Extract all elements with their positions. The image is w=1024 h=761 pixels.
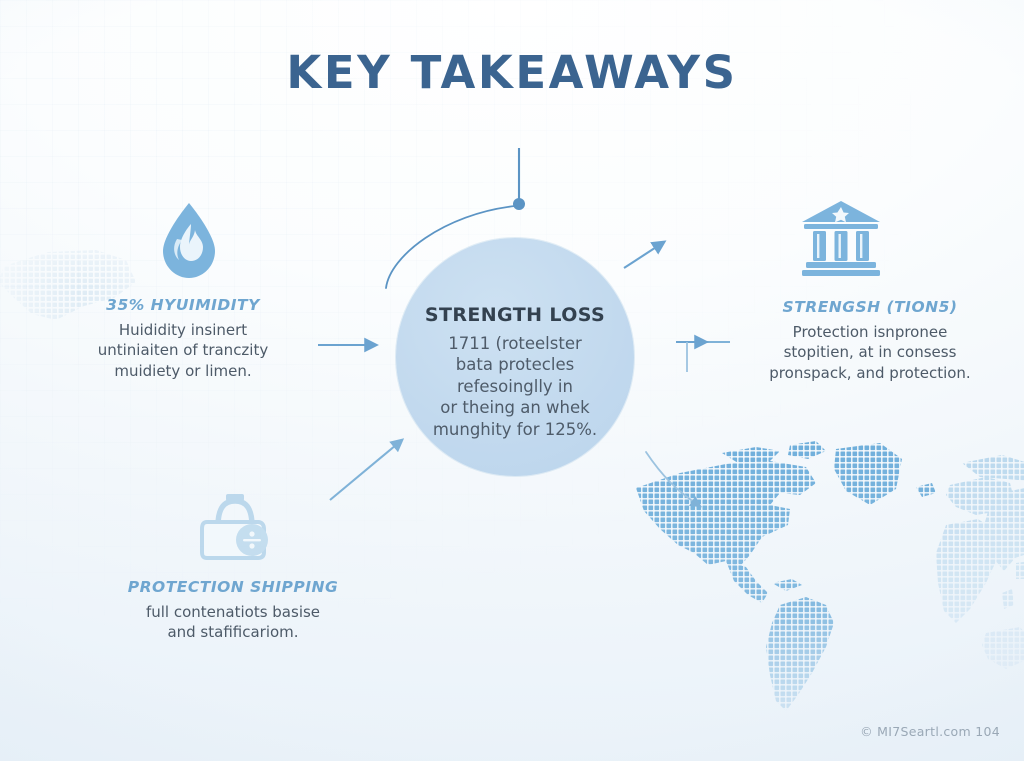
center-body-line: refesoinglly in	[410, 376, 620, 397]
bank-institution-icon	[798, 198, 884, 278]
block-strength-heading: STRENGSH (TION5)	[745, 298, 995, 316]
center-body-line: munghity for 125%.	[410, 419, 620, 440]
block-humidity-line: Huididity insinert	[68, 320, 298, 340]
block-strength: STRENGSH (TION5) Protection isnpronee st…	[745, 298, 995, 383]
block-strength-line: pronspack, and protection.	[745, 363, 995, 383]
block-humidity-line: muidiety or limen.	[68, 361, 298, 381]
center-body: 1711 (roteelster bata protecles refesoin…	[410, 333, 620, 440]
center-content: STRENGTH LOSS 1711 (roteelster bata prot…	[396, 238, 634, 476]
block-humidity-heading: 35% HYUIMIDITY	[68, 296, 298, 314]
footer-watermark: © MI7Seartl.com 104	[860, 724, 1000, 739]
center-heading: STRENGTH LOSS	[425, 304, 605, 326]
block-shipping: PROTECTION SHIPPING full contenatiots ba…	[108, 578, 358, 643]
block-shipping-line: and stafificariom.	[108, 622, 358, 642]
connector-node-dot	[513, 198, 525, 210]
connector-arrow-lowerright	[646, 452, 700, 506]
block-strength-body: Protection isnpronee stopitien, at in co…	[745, 322, 995, 383]
block-strength-line: Protection isnpronee	[745, 322, 995, 342]
block-shipping-heading: PROTECTION SHIPPING	[108, 578, 358, 596]
block-humidity-line: untiniaiten of tranczity	[68, 340, 298, 360]
connector-arrow-lowerleft	[330, 440, 402, 500]
center-body-line: bata protecles	[410, 354, 620, 375]
world-map-dotted	[630, 433, 1024, 733]
water-drop-flame-icon	[158, 200, 220, 282]
center-body-line: 1711 (roteelster	[410, 333, 620, 354]
infographic-canvas: KEY TAKEAWAYS STRENGTH	[0, 0, 1024, 761]
shipping-bag-icon	[196, 492, 274, 564]
block-shipping-line: full contenatiots basise	[108, 602, 358, 622]
block-humidity-body: Huididity insinert untiniaiten of trancz…	[68, 320, 298, 381]
center-body-line: or theing an whek	[410, 397, 620, 418]
block-strength-line: stopitien, at in consess	[745, 342, 995, 362]
block-humidity: 35% HYUIMIDITY Huididity insinert untini…	[68, 296, 298, 381]
block-shipping-body: full contenatiots basise and stafificari…	[108, 602, 358, 643]
page-title: KEY TAKEAWAYS	[0, 46, 1024, 99]
